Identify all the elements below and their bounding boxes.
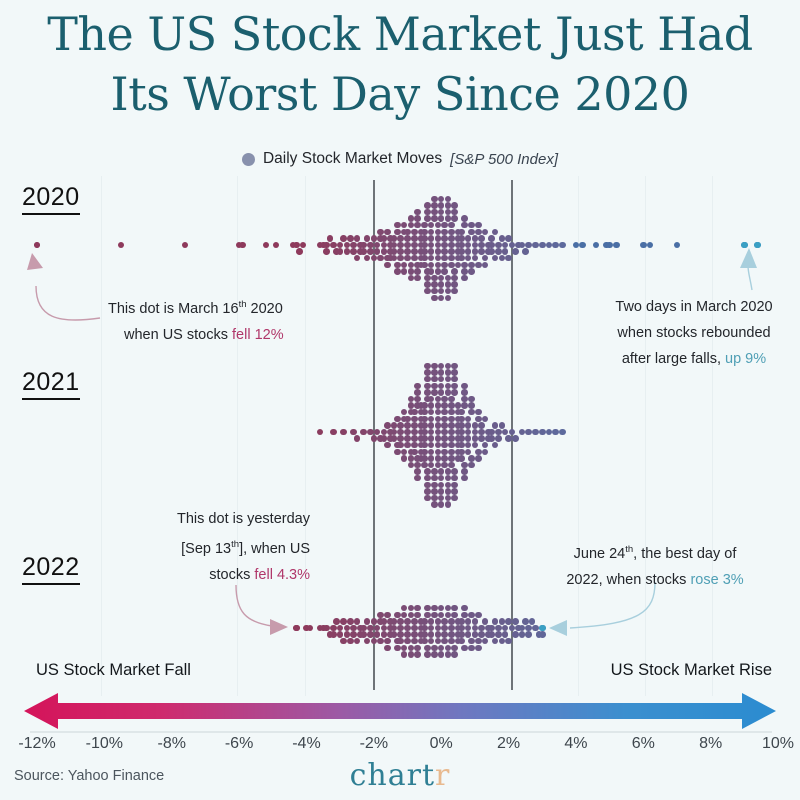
swarm-dot [263, 242, 270, 249]
swarm-dot [435, 255, 442, 262]
swarm-dot [431, 295, 438, 302]
swarm-dot [754, 242, 761, 249]
swarm-dot [397, 429, 404, 436]
swarm-dot [381, 235, 388, 242]
swarm-dot [472, 442, 479, 449]
swarm-dot [404, 638, 411, 645]
swarm-dot [404, 229, 411, 236]
swarm-dot [529, 618, 536, 625]
swarm-dot [391, 242, 398, 249]
swarm-dot [458, 449, 465, 456]
swarm-dot [468, 462, 475, 469]
swarm-dot [461, 645, 468, 652]
swarm-dot [438, 605, 445, 612]
swarm-dot [485, 248, 492, 255]
annotation-yesterday-line3a: stocks [209, 567, 254, 583]
swarm-dot-highlight [539, 625, 546, 632]
swarm-dot [424, 645, 431, 652]
swarm-dot [411, 255, 418, 262]
swarm-dot [448, 409, 455, 416]
swarm-dot [418, 435, 425, 442]
swarm-dot [465, 442, 472, 449]
swarm-dot [418, 242, 425, 249]
swarm-dot [461, 396, 468, 403]
swarm-dot [488, 242, 495, 249]
annotation-two-days-line2: when stocks rebounded [588, 320, 800, 346]
swarm-dot [239, 242, 246, 249]
swarm-dot [374, 429, 381, 436]
swarm-dot [296, 248, 303, 255]
swarm-dot [515, 625, 522, 632]
swarm-dot [421, 625, 428, 632]
swarm-dot [451, 389, 458, 396]
swarm-dot [445, 475, 452, 482]
chart-legend: Daily Stock Market Moves [S&P 500 Index] [0, 150, 800, 168]
swarm-dot [445, 488, 452, 495]
swarm-dot [478, 422, 485, 429]
swarm-dot [455, 262, 462, 269]
swarm-dot [273, 242, 280, 249]
gridline-minus2 [373, 180, 375, 690]
swarm-dot [546, 242, 553, 249]
axis-tick: 4% [564, 735, 587, 753]
swarm-dot [421, 248, 428, 255]
swarm-dot [397, 638, 404, 645]
swarm-dot [391, 429, 398, 436]
swarm-dot [414, 222, 421, 229]
axis-tick: -10% [86, 735, 123, 753]
swarm-dot [478, 242, 485, 249]
ordinal-suffix: th [239, 299, 247, 310]
swarm-dot [441, 262, 448, 269]
swarm-dot [448, 255, 455, 262]
swarm-dot [465, 422, 472, 429]
swarm-dot [445, 288, 452, 295]
swarm-dot [441, 409, 448, 416]
swarm-dot [408, 462, 415, 469]
swarm-dot [495, 429, 502, 436]
swarm-dot [495, 435, 502, 442]
swarm-dot [448, 462, 455, 469]
swarm-dot [525, 242, 532, 249]
swarm-dot [394, 222, 401, 229]
swarm-dot [394, 645, 401, 652]
swarm-dot [455, 625, 462, 632]
swarm-dot [414, 275, 421, 282]
swarm-dot [408, 455, 415, 462]
swarm-dot [391, 235, 398, 242]
swarm-dot [475, 645, 482, 652]
swarm-dot [741, 242, 748, 249]
swarm-dot [451, 288, 458, 295]
swarm-dot [384, 638, 391, 645]
swarm-dot [445, 369, 452, 376]
swarm-dot [461, 268, 468, 275]
swarm-dot [525, 429, 532, 436]
swarm-dot [391, 435, 398, 442]
year-label-2020: 2020 [22, 183, 80, 215]
swarm-dot [441, 631, 448, 638]
swarm-dot [468, 222, 475, 229]
swarm-dot [408, 409, 415, 416]
swarm-dot [512, 631, 519, 638]
annotation-june24-line2a: 2022, when stocks [566, 572, 690, 588]
swarm-dot-highlight [293, 625, 300, 632]
swarm-dot [424, 281, 431, 288]
swarm-dot [418, 449, 425, 456]
swarm-dot [448, 631, 455, 638]
swarm-dot [391, 631, 398, 638]
swarm-dot [435, 449, 442, 456]
swarm-dot [428, 229, 435, 236]
annotation-two-days: Two days in March 2020 when stocks rebou… [588, 294, 800, 372]
swarm-dot [397, 422, 404, 429]
swarm-dot [465, 449, 472, 456]
swarm-dot [448, 396, 455, 403]
swarm-dot [428, 409, 435, 416]
swarm-dot [414, 402, 421, 409]
swarm-dot [468, 396, 475, 403]
swarm-dot [360, 248, 367, 255]
swarm-dot [445, 363, 452, 370]
swarm-dot [438, 482, 445, 489]
swarm-dot [344, 631, 351, 638]
swarm-dot [438, 281, 445, 288]
annotation-june24: June 24th, the best day of 2022, when st… [540, 537, 770, 593]
swarm-dot [290, 242, 297, 249]
annotation-march16-year: 2020 [247, 301, 283, 317]
swarm-dot [438, 363, 445, 370]
swarm-dot [397, 435, 404, 442]
brand-part2: r [435, 758, 450, 793]
swarm-dot [445, 612, 452, 619]
swarm-dot [461, 222, 468, 229]
swarm-dot [468, 268, 475, 275]
swarm-dot [431, 645, 438, 652]
swarm-dot [519, 429, 526, 436]
swarm-dot [428, 262, 435, 269]
swarm-dot [435, 416, 442, 423]
annotation-two-days-highlight: up 9% [725, 351, 766, 367]
swarm-dot [428, 422, 435, 429]
swarm-dot [448, 235, 455, 242]
swarm-dot [519, 631, 526, 638]
swarm-dot [502, 631, 509, 638]
swarm-dot [488, 625, 495, 632]
swarm-dot [387, 255, 394, 262]
swarm-dot [458, 455, 465, 462]
swarm-dot [330, 242, 337, 249]
swarm-dot [411, 625, 418, 632]
swarm-dot [182, 242, 189, 249]
swarm-dot [411, 242, 418, 249]
swarm-dot [458, 235, 465, 242]
swarm-dot [404, 442, 411, 449]
swarm-dot [485, 435, 492, 442]
swarm-dot [478, 631, 485, 638]
swarm-dot [411, 638, 418, 645]
swarm-dot [387, 429, 394, 436]
swarm-dot [293, 625, 300, 632]
swarm-dot [461, 215, 468, 222]
swarm-dot [472, 248, 479, 255]
swarm-dot [387, 248, 394, 255]
swarm-dot [499, 235, 506, 242]
swarm-dot [441, 235, 448, 242]
swarm-dot [374, 631, 381, 638]
swarm-dot [465, 618, 472, 625]
swarm-dot [435, 422, 442, 429]
swarm-dot [445, 209, 452, 216]
swarm-dot [451, 202, 458, 209]
annotation-march16: This dot is March 16th 2020 when US stoc… [108, 292, 408, 348]
swarm-dot [401, 605, 408, 612]
swarm-dot [445, 275, 452, 282]
annotation-june24-line1a: June 24 [574, 546, 626, 562]
swarm-dot [397, 631, 404, 638]
swarm-dot [337, 631, 344, 638]
swarm-dot [354, 618, 361, 625]
swarm-dot [603, 242, 610, 249]
swarm-dot [438, 501, 445, 508]
swarm-dot [435, 435, 442, 442]
infographic-canvas: The US Stock Market Just Had Its Worst D… [0, 0, 800, 800]
swarm-dot [455, 422, 462, 429]
swarm-dot [424, 215, 431, 222]
swarm-dot [455, 409, 462, 416]
swarm-dot [414, 455, 421, 462]
swarm-dot [468, 262, 475, 269]
swarm-dot [428, 638, 435, 645]
legend-label: Daily Stock Market Moves [263, 150, 442, 168]
gridline-plus2 [511, 180, 513, 690]
swarm-dot [552, 429, 559, 436]
swarm-dot [394, 638, 401, 645]
swarm-dot [421, 262, 428, 269]
swarm-dot [414, 462, 421, 469]
swarm-dot [360, 429, 367, 436]
swarm-dot [323, 625, 330, 632]
swarm-dot [411, 442, 418, 449]
swarm-dot [421, 416, 428, 423]
swarm-dot [482, 638, 489, 645]
swarm-dot [394, 262, 401, 269]
swarm-dot [445, 501, 452, 508]
year-label-2021: 2021 [22, 368, 80, 400]
swarm-dot [441, 396, 448, 403]
swarm-dot [552, 242, 559, 249]
swarm-dot [482, 442, 489, 449]
swarm-dot [418, 422, 425, 429]
swarm-dot [499, 422, 506, 429]
axis-baseline [30, 731, 772, 733]
swarm-dot [401, 416, 408, 423]
swarm-dot [475, 612, 482, 619]
swarm-dot [424, 369, 431, 376]
swarm-dot [438, 209, 445, 216]
swarm-dot [387, 631, 394, 638]
swarm-dot [445, 645, 452, 652]
swarm-dot [485, 242, 492, 249]
swarm-dot [354, 435, 361, 442]
page-title-line2: Its Worst Day Since 2020 [0, 68, 800, 120]
swarm-dot [394, 416, 401, 423]
swarm-dot [458, 618, 465, 625]
swarm-dot [418, 442, 425, 449]
swarm-dot [512, 248, 519, 255]
swarm-dot [451, 482, 458, 489]
swarm-dot [441, 618, 448, 625]
swarm-dot [458, 631, 465, 638]
swarm-dot [485, 429, 492, 436]
swarm-dot [411, 435, 418, 442]
swarm-dot [418, 262, 425, 269]
swarm-dot [431, 495, 438, 502]
swarm-dot [397, 235, 404, 242]
swarm-dot [424, 268, 431, 275]
swarm-dot [387, 242, 394, 249]
axis-tick: -4% [292, 735, 320, 753]
swarm-dot [431, 196, 438, 203]
swarm-dot [458, 429, 465, 436]
swarm-dot [458, 229, 465, 236]
swarm-dot [357, 625, 364, 632]
swarm-dot [421, 435, 428, 442]
swarm-dot [455, 248, 462, 255]
swarm-dot [461, 275, 468, 282]
swarm-dot [515, 242, 522, 249]
swarm-dot [317, 429, 324, 436]
swarm-dot [344, 625, 351, 632]
swarm-dot [397, 255, 404, 262]
swarm-dot [455, 631, 462, 638]
swarm-dot [512, 618, 519, 625]
swarm-dot [411, 618, 418, 625]
swarm-dot [354, 638, 361, 645]
swarm-dot [408, 605, 415, 612]
swarm-dot [478, 435, 485, 442]
swarm-dot [408, 645, 415, 652]
swarm-dot [428, 625, 435, 632]
swarm-dot [404, 631, 411, 638]
swarm-dot [525, 625, 532, 632]
swarm-dot [414, 262, 421, 269]
swarm-dot [536, 631, 543, 638]
swarm-dot [492, 638, 499, 645]
swarm-dot [340, 235, 347, 242]
swarm-dot [458, 255, 465, 262]
swarm-dot [451, 281, 458, 288]
swarm-dot [350, 631, 357, 638]
swarm-dot [438, 196, 445, 203]
swarm-dot [424, 488, 431, 495]
swarm-dot [428, 248, 435, 255]
swarm-dot [354, 235, 361, 242]
swarm-dot [445, 383, 452, 390]
swarm-dot [418, 255, 425, 262]
swarm-dot [451, 651, 458, 658]
swarm-dot [401, 262, 408, 269]
swarm-dot [404, 416, 411, 423]
swarm-dot [387, 625, 394, 632]
swarm-dot [404, 435, 411, 442]
swarm-dot [424, 612, 431, 619]
swarm-dot [418, 248, 425, 255]
swarm-dot [408, 651, 415, 658]
annotation-yesterday-highlight: fell 4.3% [254, 567, 310, 583]
swarm-dot [421, 618, 428, 625]
swarm-dot [408, 612, 415, 619]
swarm-dot [401, 449, 408, 456]
swarm-dot [377, 618, 384, 625]
swarm-dot [482, 618, 489, 625]
swarm-dot [414, 475, 421, 482]
swarm-dot [381, 435, 388, 442]
swarm-dot [317, 242, 324, 249]
swarm-dot [441, 455, 448, 462]
swarm-dot [438, 369, 445, 376]
swarm-dot [435, 455, 442, 462]
swarm-dot [411, 631, 418, 638]
swarm-dot [539, 429, 546, 436]
swarm-dot [468, 455, 475, 462]
swarm-dot [357, 242, 364, 249]
swarm-dot [428, 429, 435, 436]
swarm-dot [381, 248, 388, 255]
swarm-dot [438, 475, 445, 482]
swarm-dot [461, 462, 468, 469]
swarm-dot [492, 442, 499, 449]
swarm-dot [438, 389, 445, 396]
swarm-dot [455, 638, 462, 645]
swarm-dot [421, 409, 428, 416]
swarm-dot [408, 262, 415, 269]
swarm-dot [391, 618, 398, 625]
swarm-dot [418, 409, 425, 416]
swarm-dot [519, 242, 526, 249]
swarm-dot [482, 229, 489, 236]
swarm-dot [431, 482, 438, 489]
swarm-dot [431, 202, 438, 209]
swarm-dot [455, 435, 462, 442]
swarm-dot [408, 268, 415, 275]
swarm-dot [647, 242, 654, 249]
swarm-dot [451, 488, 458, 495]
swarm-dot [499, 638, 506, 645]
swarm-dot [458, 242, 465, 249]
swarm-dot [418, 618, 425, 625]
swarm-dot [414, 612, 421, 619]
swarm-dot [384, 442, 391, 449]
brand-part1: chart [350, 758, 435, 793]
swarm-dot [492, 422, 499, 429]
swarm-dot [391, 625, 398, 632]
swarm-dot [579, 242, 586, 249]
swarm-dot [445, 605, 452, 612]
annotation-yesterday-line1: This dot is yesterday [150, 506, 310, 532]
swarm-dot [441, 625, 448, 632]
swarm-dot [435, 625, 442, 632]
swarm-dot [431, 376, 438, 383]
swarm-dot [431, 281, 438, 288]
swarm-dot [441, 402, 448, 409]
swarm-dot [445, 651, 452, 658]
swarm-dot [421, 462, 428, 469]
swarm-dot-highlight [754, 242, 761, 249]
swarm-dot [293, 242, 300, 249]
swarm-dot [364, 618, 371, 625]
swarm-dot [401, 651, 408, 658]
